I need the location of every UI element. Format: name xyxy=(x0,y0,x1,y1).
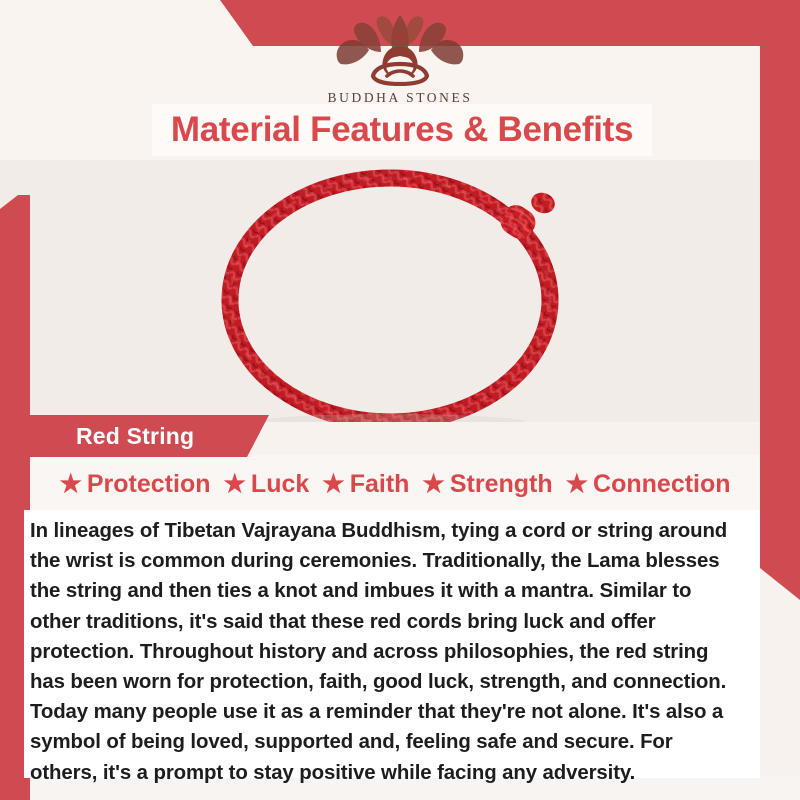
benefit-item-luck: ★ Luck xyxy=(224,470,310,499)
benefit-item-connection: ★ Connection xyxy=(566,470,731,499)
product-info-poster: BUDDHA STONES Material Features & Benefi… xyxy=(0,0,800,800)
star-icon: ★ xyxy=(59,472,81,497)
brand-logo: BUDDHA STONES xyxy=(0,14,800,106)
star-icon: ★ xyxy=(422,472,444,497)
benefit-label: Luck xyxy=(251,470,309,499)
benefit-label: Connection xyxy=(593,470,731,499)
benefit-item-faith: ★ Faith xyxy=(322,470,409,499)
benefit-label: Protection xyxy=(87,470,211,499)
description-text: In lineages of Tibetan Vajrayana Buddhis… xyxy=(24,514,760,788)
star-icon: ★ xyxy=(224,472,246,497)
benefit-item-protection: ★ Protection xyxy=(59,470,210,499)
description-panel: In lineages of Tibetan Vajrayana Buddhis… xyxy=(24,510,760,778)
star-icon: ★ xyxy=(322,472,344,497)
page-title: Material Features & Benefits xyxy=(171,110,633,150)
product-label-flag: Red String xyxy=(24,415,269,457)
benefit-label: Faith xyxy=(350,470,410,499)
benefit-label: Strength xyxy=(450,470,553,499)
title-ribbon: Material Features & Benefits xyxy=(152,104,652,156)
product-image xyxy=(30,160,760,422)
benefit-item-strength: ★ Strength xyxy=(422,470,552,499)
benefits-list: ★ Protection ★ Luck ★ Faith ★ Strength ★… xyxy=(30,462,760,506)
star-icon: ★ xyxy=(566,472,588,497)
product-label: Red String xyxy=(76,423,194,450)
lotus-meditation-icon xyxy=(0,14,800,86)
